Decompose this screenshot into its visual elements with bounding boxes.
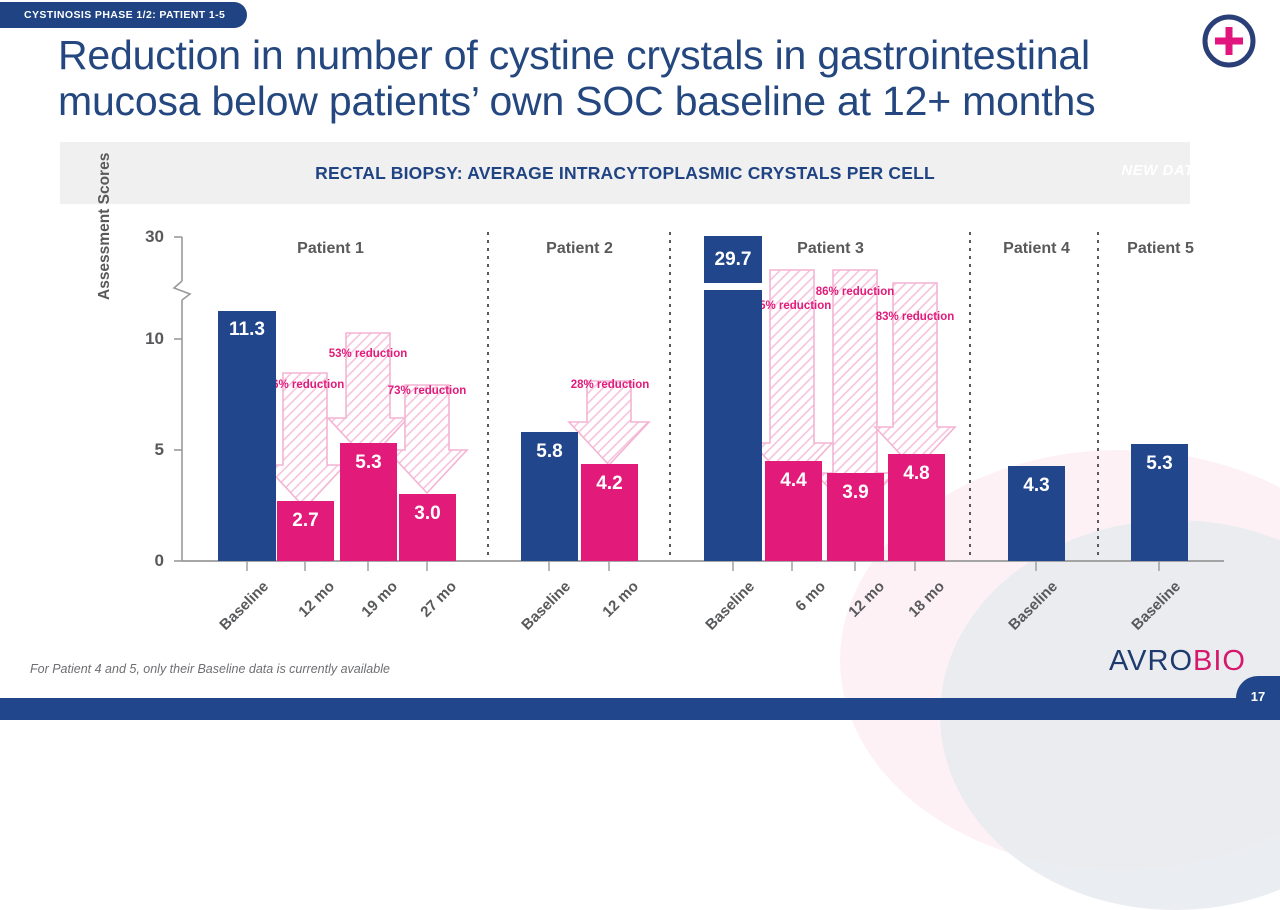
footnote: For Patient 4 and 5, only their Baseline…: [30, 662, 390, 676]
bar-value-p1-27mo: 3.0: [399, 503, 456, 525]
reduction-label-p1-27mo: 73% reduction: [372, 385, 482, 398]
reduction-label-p3-18mo: 83% reduction: [860, 311, 970, 324]
arrow-p2-12mo: [569, 381, 649, 465]
reduction-label-p3-12mo: 86% reduction: [800, 286, 910, 299]
bar-value-p5-baseline: 5.3: [1131, 453, 1188, 475]
bar-value-p1-19mo: 5.3: [340, 452, 397, 474]
page-number-badge: 17: [1236, 676, 1280, 720]
bar-p1-27mo[interactable]: 3.0: [399, 494, 456, 561]
bar-value-p4-baseline: 4.3: [1008, 475, 1065, 497]
bar-p2-12mo[interactable]: 4.2: [581, 464, 638, 561]
bar-p3-18mo[interactable]: 4.8: [888, 454, 945, 561]
bar-value-p1-12mo: 2.7: [277, 510, 334, 532]
bar-p5-baseline[interactable]: 5.3: [1131, 444, 1188, 561]
reduction-arrows: [0, 0, 1280, 720]
arrow-p1-12mo: [265, 373, 345, 508]
avrobio-logo: AVROBIO: [1109, 645, 1246, 678]
bar-value-box-p3-baseline: 29.7: [704, 236, 762, 283]
bar-p1-12mo[interactable]: 2.7: [277, 501, 334, 561]
bar-p4-baseline[interactable]: 4.3: [1008, 466, 1065, 561]
logo-bio-text: BIO: [1193, 645, 1246, 677]
logo-avro-text: AVRO: [1109, 645, 1193, 677]
reduction-label-p2-12mo: 28% reduction: [555, 379, 665, 392]
footer-bar: [0, 698, 1280, 720]
reduction-label-p1-19mo: 53% reduction: [313, 348, 423, 361]
arrow-p1-27mo: [387, 385, 467, 493]
bar-p3-6mo[interactable]: 4.4: [765, 461, 822, 561]
bar-p1-19mo[interactable]: 5.3: [340, 443, 397, 561]
bar-p3-12mo[interactable]: 3.9: [827, 473, 884, 561]
bar-p1-baseline[interactable]: 11.3: [218, 311, 276, 561]
bar-value-p3-6mo: 4.4: [765, 470, 822, 492]
bar-value-p2-12mo: 4.2: [581, 473, 638, 495]
bar-value-p3-baseline: 29.7: [715, 249, 752, 271]
bar-value-p3-12mo: 3.9: [827, 482, 884, 504]
bar-value-p1-baseline: 11.3: [218, 319, 276, 341]
page-number: 17: [1251, 689, 1265, 704]
bar-value-p3-18mo: 4.8: [888, 463, 945, 485]
bar-value-p2-baseline: 5.8: [521, 441, 578, 463]
chart-plot-area: Assessment Scores: [0, 0, 1280, 720]
bar-p2-baseline[interactable]: 5.8: [521, 432, 578, 561]
bar-p3-baseline[interactable]: [704, 290, 762, 561]
